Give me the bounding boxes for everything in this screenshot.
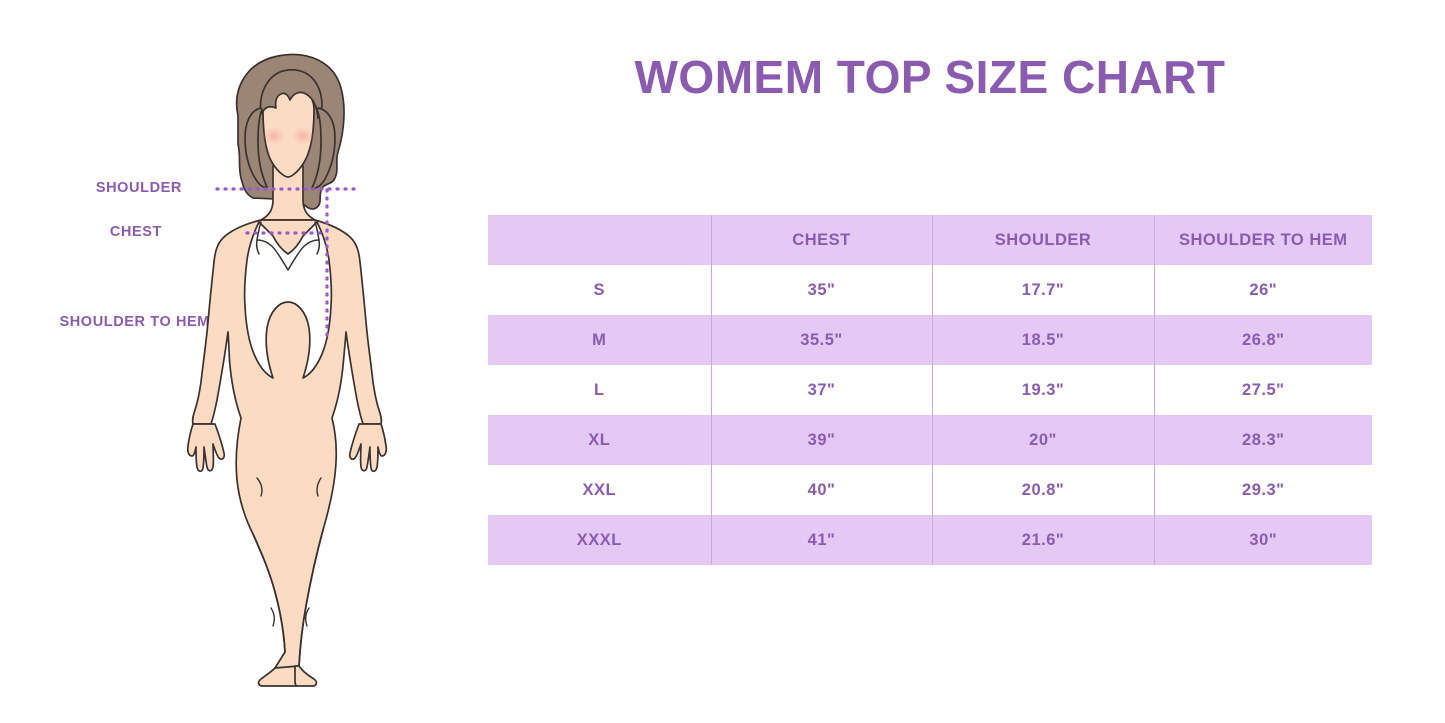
blush-left bbox=[263, 127, 285, 145]
female-body-diagram-svg bbox=[175, 48, 420, 688]
cell-shoulder-to-hem: 26.8" bbox=[1154, 315, 1372, 365]
column-header-size bbox=[488, 215, 711, 265]
cell-chest: 37" bbox=[711, 365, 932, 415]
cell-shoulder: 19.3" bbox=[932, 365, 1154, 415]
size-chart-table: CHEST SHOULDER SHOULDER TO HEM S 35" 17.… bbox=[488, 215, 1372, 565]
cell-shoulder-to-hem: 26" bbox=[1154, 265, 1372, 315]
cell-size: M bbox=[488, 315, 711, 365]
measurement-label-shoulder: SHOULDER bbox=[0, 180, 182, 196]
table-row: XXXL 41" 21.6" 30" bbox=[488, 515, 1372, 565]
column-header-chest: CHEST bbox=[711, 215, 932, 265]
table-row: XXL 40" 20.8" 29.3" bbox=[488, 465, 1372, 515]
hand-left bbox=[188, 424, 224, 471]
column-header-shoulder-to-hem: SHOULDER TO HEM bbox=[1154, 215, 1372, 265]
cell-shoulder-to-hem: 29.3" bbox=[1154, 465, 1372, 515]
cell-shoulder-to-hem: 28.3" bbox=[1154, 415, 1372, 465]
column-header-shoulder: SHOULDER bbox=[932, 215, 1154, 265]
cell-size: L bbox=[488, 365, 711, 415]
cell-chest: 41" bbox=[711, 515, 932, 565]
ankle-crease-right bbox=[306, 608, 309, 626]
table-row: S 35" 17.7" 26" bbox=[488, 265, 1372, 315]
cell-size: XL bbox=[488, 415, 711, 465]
cell-shoulder-to-hem: 30" bbox=[1154, 515, 1372, 565]
table-row: L 37" 19.3" 27.5" bbox=[488, 365, 1372, 415]
cell-chest: 35" bbox=[711, 265, 932, 315]
cell-shoulder: 20.8" bbox=[932, 465, 1154, 515]
table-header-row: CHEST SHOULDER SHOULDER TO HEM bbox=[488, 215, 1372, 265]
cell-shoulder: 21.6" bbox=[932, 515, 1154, 565]
foot-left bbox=[259, 666, 299, 686]
cell-size: S bbox=[488, 265, 711, 315]
blush-right bbox=[292, 127, 314, 145]
cell-chest: 39" bbox=[711, 415, 932, 465]
ankle-crease-left bbox=[271, 608, 274, 626]
cell-chest: 40" bbox=[711, 465, 932, 515]
table-body: S 35" 17.7" 26" M 35.5" 18.5" 26.8" L 37… bbox=[488, 265, 1372, 565]
cell-shoulder: 17.7" bbox=[932, 265, 1154, 315]
cell-chest: 35.5" bbox=[711, 315, 932, 365]
size-chart-page: WOMEM TOP SIZE CHART SHOULDER CHEST SHOU… bbox=[0, 0, 1445, 723]
cell-shoulder: 18.5" bbox=[932, 315, 1154, 365]
cell-shoulder: 20" bbox=[932, 415, 1154, 465]
foot-right bbox=[295, 666, 316, 686]
table-header: CHEST SHOULDER SHOULDER TO HEM bbox=[488, 215, 1372, 265]
table-row: XL 39" 20" 28.3" bbox=[488, 415, 1372, 465]
table-row: M 35.5" 18.5" 26.8" bbox=[488, 315, 1372, 365]
hand-right bbox=[350, 424, 386, 471]
cell-size: XXXL bbox=[488, 515, 711, 565]
page-title: WOMEM TOP SIZE CHART bbox=[480, 50, 1380, 104]
cell-shoulder-to-hem: 27.5" bbox=[1154, 365, 1372, 415]
female-figure-illustration bbox=[175, 48, 420, 688]
measurement-label-chest: CHEST bbox=[0, 224, 162, 240]
cell-size: XXL bbox=[488, 465, 711, 515]
